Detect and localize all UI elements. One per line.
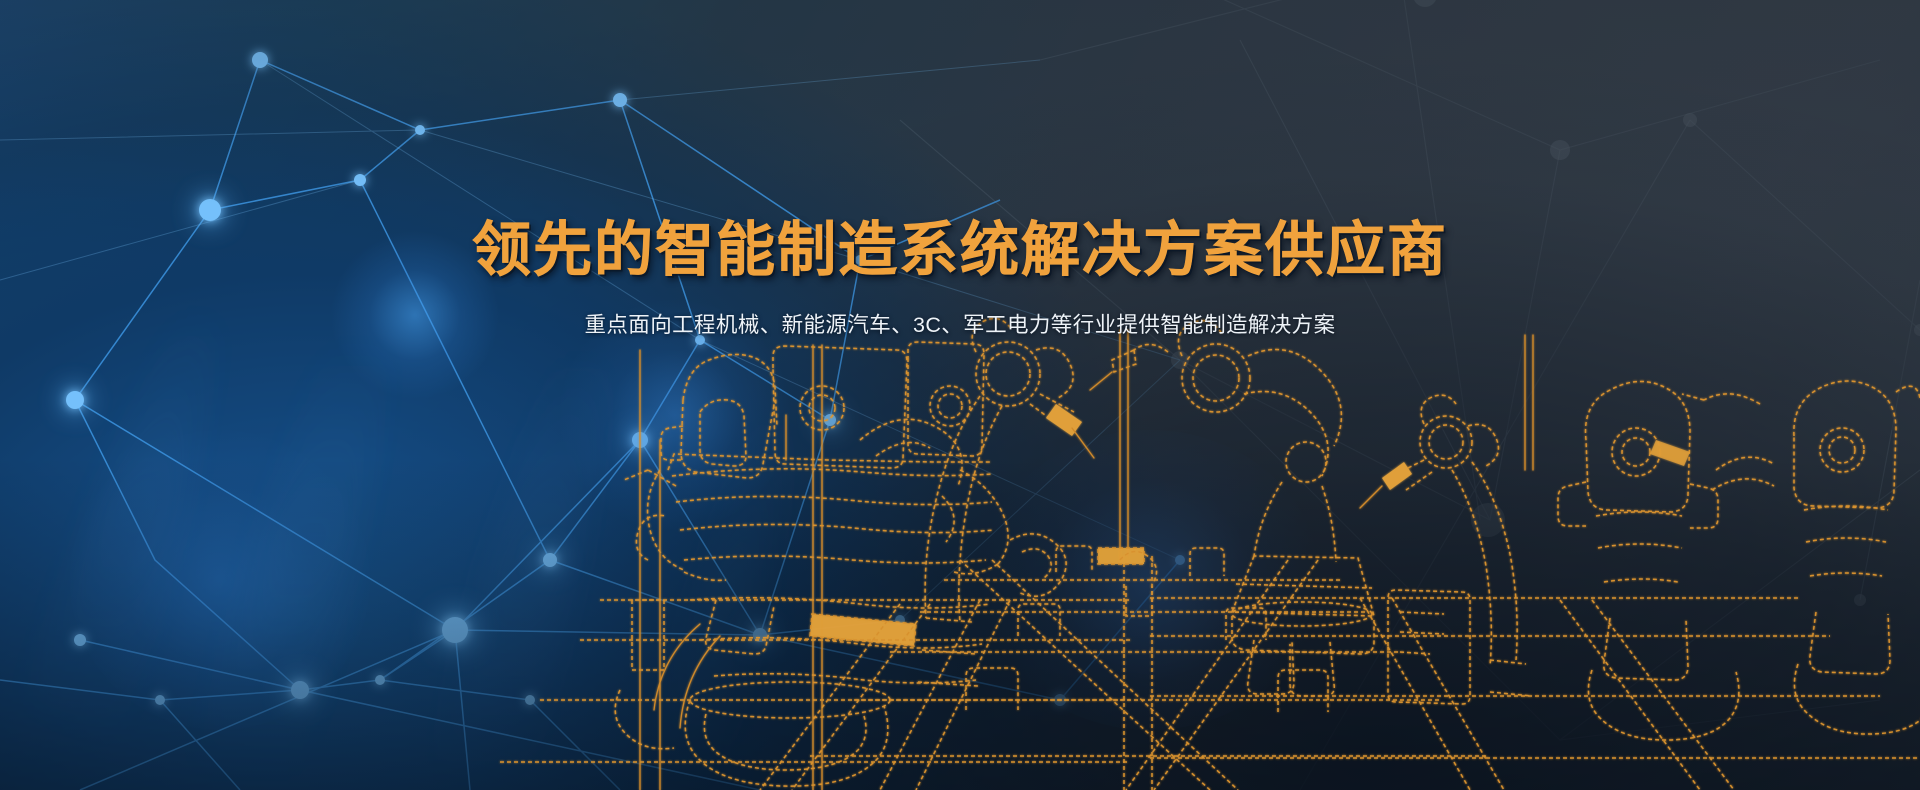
humanoid-robot	[648, 342, 1067, 786]
welding-robot-arm-right	[1360, 395, 1532, 696]
conveyor-production-line	[500, 546, 1920, 790]
hero-banner: .ln { fill:none; stroke:#e0962f; stroke-…	[0, 0, 1920, 790]
far-right-robots	[1558, 381, 1920, 740]
articulated-robot-arm	[1178, 321, 1470, 704]
welding-torch	[1090, 344, 1168, 390]
welding-robot-arm-left	[918, 318, 1094, 686]
industrial-robot-line-art: .ln { fill:none; stroke:#e0962f; stroke-…	[0, 0, 1920, 790]
factory-machinery	[615, 470, 720, 749]
